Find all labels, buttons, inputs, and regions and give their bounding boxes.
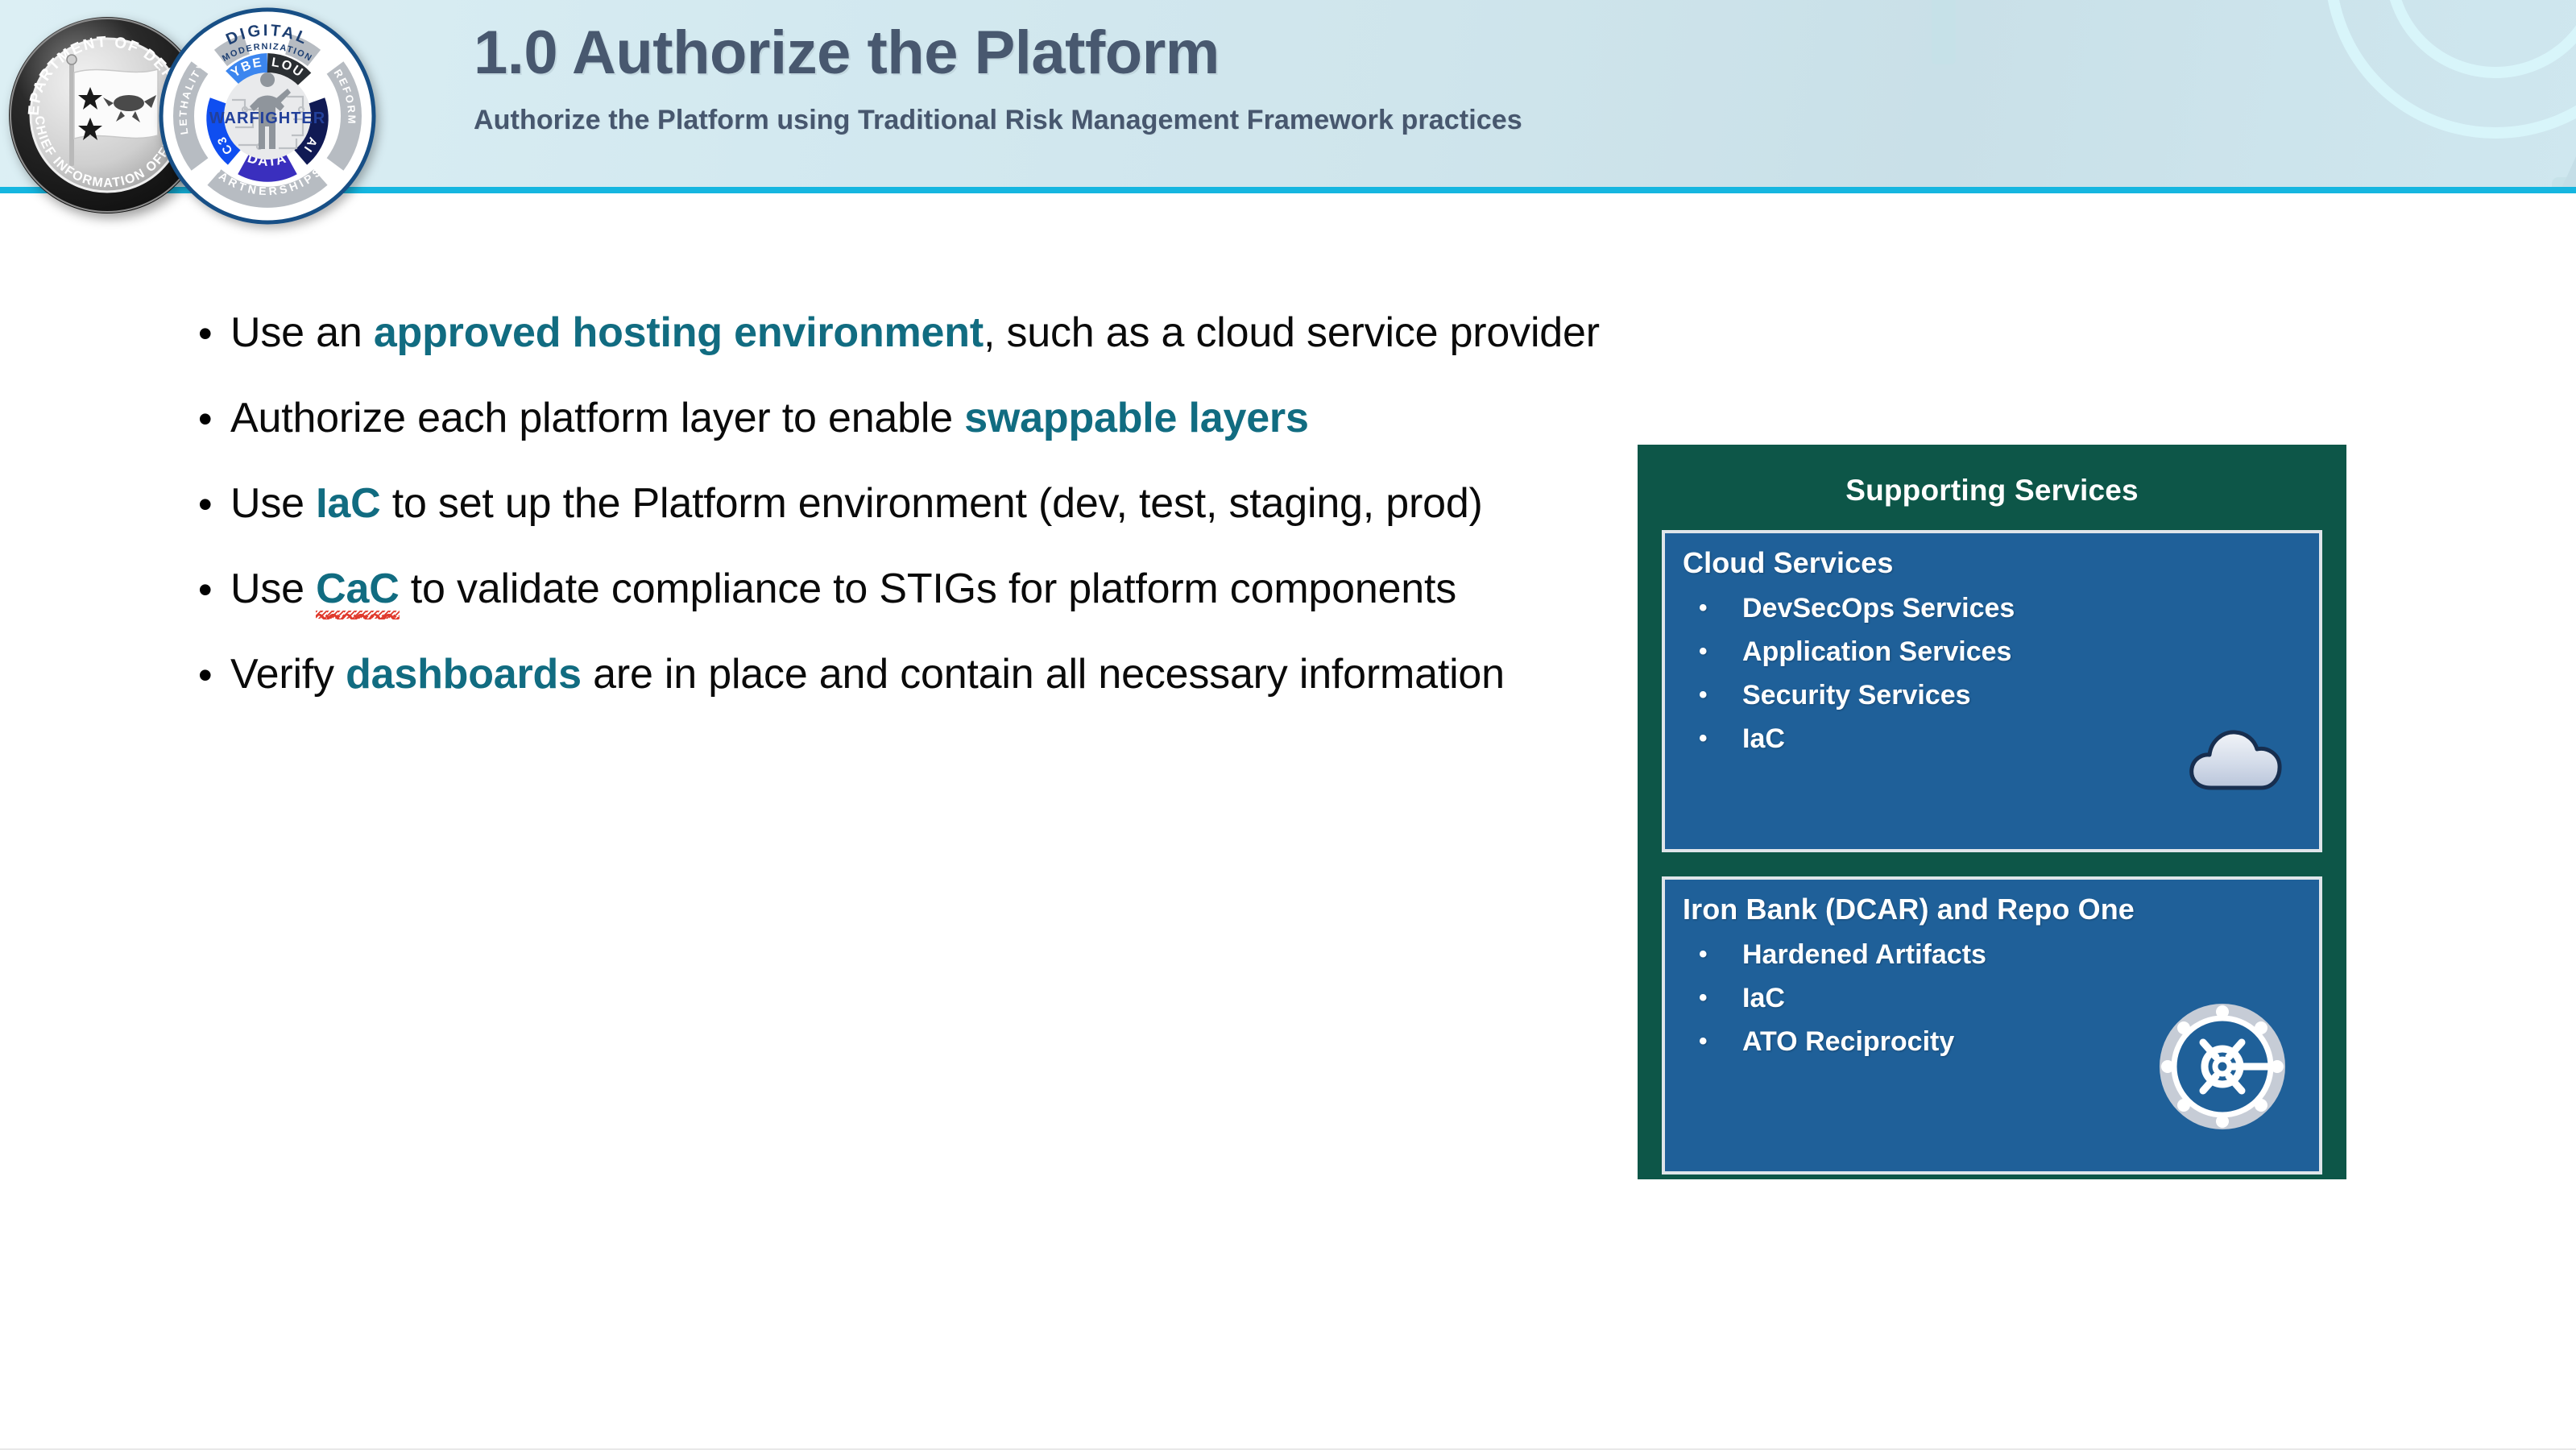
bullet-span-plain: Use xyxy=(230,480,316,527)
list-item: • DevSecOps Services xyxy=(1699,586,2301,630)
bullet-marker: • xyxy=(187,562,230,617)
bullet-span-plain: Authorize each platform layer to enable xyxy=(230,395,964,441)
list-item-label: DevSecOps Services xyxy=(1742,594,2015,622)
svg-text:WARFIGHTER: WARFIGHTER xyxy=(209,110,325,127)
header-accent-line xyxy=(0,187,2576,193)
list-bullet-icon: • xyxy=(1699,640,1742,664)
list-bullet-icon: • xyxy=(1699,1029,1742,1054)
slide-header: 1.0 Authorize the Platform Authorize the… xyxy=(0,0,2576,193)
bullet-span-plain: Verify xyxy=(230,651,346,698)
list-item: • Hardened Artifacts xyxy=(1699,933,2301,976)
page-subtitle: Authorize the Platform using Traditional… xyxy=(474,105,1522,136)
bullet-span-plain: Use xyxy=(230,565,316,612)
bullet-swappable-layers: • Authorize each platform layer to enabl… xyxy=(187,391,1605,446)
bullet-cac-stigs: • Use CaC to validate compliance to STIG… xyxy=(187,562,1605,617)
list-item: • Security Services xyxy=(1699,673,2301,717)
bullet-text: Verify dashboards are in place and conta… xyxy=(230,648,1505,702)
title-block: 1.0 Authorize the Platform Authorize the… xyxy=(474,23,1522,136)
bullet-span-plain-2: to validate compliance to STIGs for plat… xyxy=(400,565,1457,612)
bullet-text: Authorize each platform layer to enable … xyxy=(230,391,1309,446)
bullet-marker: • xyxy=(187,391,230,446)
list-item-label: IaC xyxy=(1742,725,1785,752)
list-item-label: IaC xyxy=(1742,984,1785,1012)
bullet-span-plain-2: , such as a cloud service provider xyxy=(984,309,1600,356)
bullet-span-highlight: approved hosting environment xyxy=(374,309,984,356)
bullet-text: Use CaC to validate compliance to STIGs … xyxy=(230,562,1456,617)
list-bullet-icon: • xyxy=(1699,942,1742,967)
bullet-iac-environment: • Use IaC to set up the Platform environ… xyxy=(187,477,1605,532)
list-item-label: Hardened Artifacts xyxy=(1742,941,1986,968)
bullet-span-highlight: dashboards xyxy=(346,651,582,698)
bullet-text: Use an approved hosting environment, suc… xyxy=(230,306,1600,361)
bullet-span-highlight: swappable layers xyxy=(964,395,1308,441)
iron-bank-heading: Iron Bank (DCAR) and Repo One xyxy=(1683,893,2301,926)
iron-bank-box: Iron Bank (DCAR) and Repo One • Hardened… xyxy=(1662,876,2322,1174)
bullet-span-highlight: CaC xyxy=(316,565,399,612)
bullet-span-plain: Use an xyxy=(230,309,374,356)
list-bullet-icon: • xyxy=(1699,683,1742,707)
spellcheck-underlined-term: CaC xyxy=(316,562,399,617)
supporting-services-title: Supporting Services xyxy=(1662,474,2322,507)
header-watermark-graphic xyxy=(1835,0,2576,193)
bullet-approved-hosting: • Use an approved hosting environment, s… xyxy=(187,306,1605,361)
list-item-label: Security Services xyxy=(1742,681,1971,709)
list-item-label: ATO Reciprocity xyxy=(1742,1028,1954,1055)
bullet-marker: • xyxy=(187,648,230,702)
cloud-services-box: Cloud Services • DevSecOps Services • Ap… xyxy=(1662,530,2322,852)
page-title: 1.0 Authorize the Platform xyxy=(474,23,1522,84)
list-bullet-icon: • xyxy=(1699,986,1742,1010)
spellcheck-squiggle-icon xyxy=(316,611,399,619)
cloud-services-heading: Cloud Services xyxy=(1683,546,2301,580)
bullet-span-highlight: IaC xyxy=(316,480,380,527)
digital-modernization-seal-icon: DIGITAL MODERNIZATION LETHALITY REFORM P… xyxy=(158,6,377,226)
vault-icon xyxy=(2153,997,2292,1136)
bullet-marker: • xyxy=(187,306,230,361)
bullet-dashboards: • Verify dashboards are in place and con… xyxy=(187,648,1605,702)
bullet-text: Use IaC to set up the Platform environme… xyxy=(230,477,1483,532)
bullet-list: • Use an approved hosting environment, s… xyxy=(187,306,1605,702)
list-bullet-icon: • xyxy=(1699,596,1742,620)
list-item-label: Application Services xyxy=(1742,638,2011,665)
supporting-services-panel: Supporting Services Cloud Services • Dev… xyxy=(1638,445,2346,1179)
bullet-span-plain-2: to set up the Platform environment (dev,… xyxy=(380,480,1482,527)
list-bullet-icon: • xyxy=(1699,727,1742,751)
bullet-marker: • xyxy=(187,477,230,532)
list-item: • Application Services xyxy=(1699,630,2301,673)
bullet-span-plain-2: are in place and contain all necessary i… xyxy=(582,651,1505,698)
cloud-icon xyxy=(2187,719,2292,796)
